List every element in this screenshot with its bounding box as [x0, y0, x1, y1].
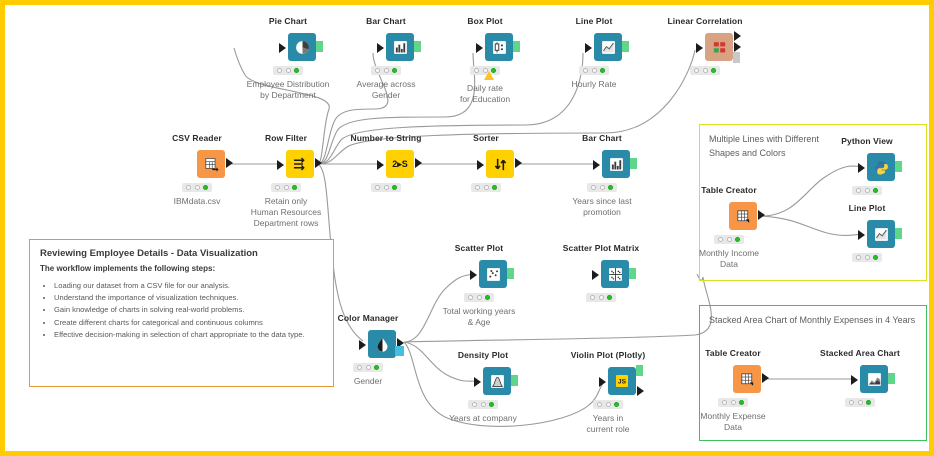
workflow-canvas[interactable]: Pie Chart Employee Distributionby Depart… — [0, 0, 934, 456]
node-status-leds — [271, 183, 301, 192]
output-port — [895, 228, 902, 239]
output-port — [622, 41, 629, 52]
node-title: Color Manager — [338, 313, 399, 323]
input-port — [858, 230, 865, 240]
node-annotation: Years since lastpromotion — [572, 196, 631, 218]
output-port-2 — [734, 42, 741, 52]
list-item: Gain knowledge of charts in solving real… — [54, 304, 325, 316]
node-title: Table Creator — [705, 348, 760, 358]
output-port — [629, 268, 636, 279]
node-title: Line Plot — [576, 16, 613, 26]
node-status-leds — [690, 66, 720, 75]
node-status-leds — [587, 183, 617, 192]
warning-icon — [484, 71, 494, 80]
python-icon[interactable] — [867, 153, 895, 181]
node-annotation: Gender — [354, 376, 382, 387]
scatter-plot-matrix-icon[interactable] — [601, 260, 629, 288]
density-plot-icon[interactable] — [483, 367, 511, 395]
node-title: Pie Chart — [269, 16, 307, 26]
input-port — [593, 160, 600, 170]
node-status-leds — [852, 253, 882, 262]
line-plot-icon[interactable] — [594, 33, 622, 61]
violin-plot-js-icon[interactable]: JS — [608, 367, 636, 395]
node-status-leds — [468, 400, 498, 409]
pie-chart-icon[interactable] — [288, 33, 316, 61]
stacked-area-chart-icon[interactable] — [860, 365, 888, 393]
box-plot-icon[interactable] — [485, 33, 513, 61]
input-port — [470, 270, 477, 280]
table-creator-icon[interactable] — [729, 202, 757, 230]
output-port-color-model — [395, 346, 404, 356]
node-title: Row Filter — [265, 133, 307, 143]
node-annotation: Monthly IncomeData — [699, 248, 759, 270]
node-title: Scatter Plot — [455, 243, 503, 253]
node-annotation: Monthly ExpenseData — [700, 411, 765, 433]
node-title: Line Plot — [849, 203, 886, 213]
node-title: Bar Chart — [366, 16, 406, 26]
annotation-subheading: The workflow implements the following st… — [40, 264, 325, 273]
node-status-leds — [579, 66, 609, 75]
input-port — [477, 160, 484, 170]
output-port — [511, 375, 518, 386]
node-status-leds — [471, 183, 501, 192]
output-port — [630, 158, 637, 169]
node-status-leds — [353, 363, 383, 372]
frame-title: Stacked Area Chart of Monthly Expenses i… — [709, 313, 918, 327]
input-port — [277, 160, 284, 170]
table-creator-icon[interactable] — [733, 365, 761, 393]
node-annotation: Years incurrent role — [587, 413, 630, 435]
node-status-leds — [464, 293, 494, 302]
output-port — [758, 210, 765, 220]
output-port-table — [637, 386, 644, 396]
node-annotation: Average acrossGender — [357, 79, 416, 101]
node-annotation: Total working years& Age — [443, 306, 516, 328]
output-port-1 — [734, 31, 741, 41]
input-port — [279, 43, 286, 53]
node-title: Violin Plot (Plotly) — [571, 350, 646, 360]
scatter-plot-icon[interactable] — [479, 260, 507, 288]
node-title: Box Plot — [467, 16, 502, 26]
output-port — [895, 161, 902, 172]
input-port — [476, 43, 483, 53]
node-annotation: Years at company — [449, 413, 517, 424]
output-port-3 — [733, 52, 740, 63]
node-annotation: Employee Distributionby DepartmentEmploy… — [247, 79, 330, 101]
node-annotation: Hourly Rate — [572, 79, 617, 90]
node-status-leds — [714, 235, 744, 244]
input-port — [377, 43, 384, 53]
list-item: Understand the importance of visualizati… — [54, 292, 325, 304]
node-title: Scatter Plot Matrix — [563, 243, 640, 253]
output-port — [762, 373, 769, 383]
input-port — [851, 375, 858, 385]
node-title: Density Plot — [458, 350, 508, 360]
node-status-leds — [718, 398, 748, 407]
row-filter-icon[interactable] — [286, 150, 314, 178]
svg-text:JS: JS — [618, 379, 627, 386]
sorter-icon[interactable] — [486, 150, 514, 178]
output-port — [515, 158, 522, 168]
node-annotation: Daily ratefor Education — [460, 83, 510, 105]
number-to-string-icon[interactable]: 2▸S — [386, 150, 414, 178]
node-title: Number to String — [350, 133, 421, 143]
node-status-leds — [845, 398, 875, 407]
input-port — [585, 43, 592, 53]
input-port — [474, 377, 481, 387]
linear-correlation-icon[interactable] — [705, 33, 733, 61]
node-annotation: IBMdata.csv — [174, 196, 221, 207]
input-port — [359, 340, 366, 350]
list-item: Loading our dataset from a CSV file for … — [54, 280, 325, 292]
line-plot-icon[interactable] — [867, 220, 895, 248]
node-annotation: Retain onlyHuman ResourcesDepartment row… — [251, 196, 321, 229]
output-port — [226, 158, 233, 168]
input-port — [592, 270, 599, 280]
list-item: Create different charts for categorical … — [54, 317, 325, 329]
input-port — [858, 163, 865, 173]
output-port — [315, 158, 322, 168]
node-status-leds — [273, 66, 303, 75]
node-title: Sorter — [473, 133, 499, 143]
node-title: Stacked Area Chart — [820, 348, 900, 358]
output-port-image — [636, 365, 643, 376]
annotation-heading: Reviewing Employee Details - Data Visual… — [40, 248, 325, 259]
node-title: CSV Reader — [172, 133, 222, 143]
input-port — [377, 160, 384, 170]
bar-chart-icon[interactable] — [602, 150, 630, 178]
node-status-leds — [593, 400, 623, 409]
output-port — [888, 373, 895, 384]
bar-chart-icon[interactable] — [386, 33, 414, 61]
node-title: Bar Chart — [582, 133, 622, 143]
csv-reader-icon[interactable] — [197, 150, 225, 178]
output-port — [507, 268, 514, 279]
annotation-workflow-description: Reviewing Employee Details - Data Visual… — [29, 239, 334, 387]
node-status-leds — [371, 183, 401, 192]
output-port — [316, 41, 323, 52]
list-item: Effective decision-making in selection o… — [54, 329, 325, 341]
input-port — [599, 377, 606, 387]
input-port — [696, 43, 703, 53]
node-title: Table Creator — [701, 185, 756, 195]
output-port — [414, 41, 421, 52]
color-manager-icon[interactable] — [368, 330, 396, 358]
output-port — [513, 41, 520, 52]
output-port — [415, 158, 422, 168]
node-title: Python View — [841, 136, 892, 146]
node-status-leds — [182, 183, 212, 192]
node-title: Linear Correlation — [667, 16, 742, 26]
node-status-leds — [852, 186, 882, 195]
annotation-bullet-list: Loading our dataset from a CSV file for … — [40, 280, 325, 341]
node-status-leds — [371, 66, 401, 75]
node-status-leds — [586, 293, 616, 302]
